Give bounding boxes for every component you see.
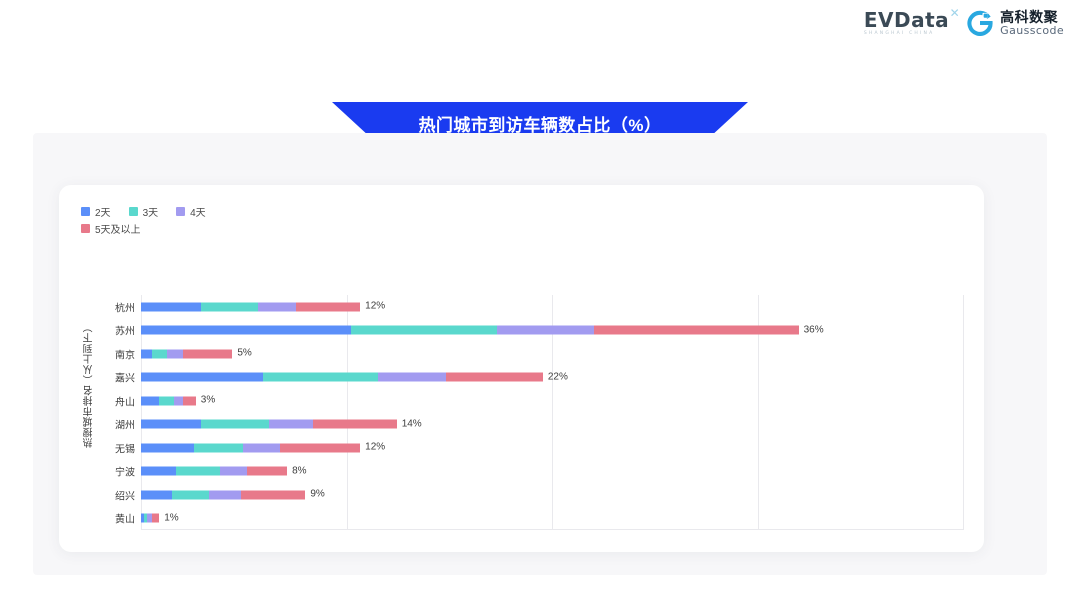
bar-segment-5天及以上[interactable] xyxy=(183,349,232,358)
bar-row[interactable]: 1% xyxy=(141,514,963,523)
bar-segment-4天[interactable] xyxy=(243,443,280,452)
bar-segment-3天[interactable] xyxy=(176,467,220,476)
bar-segment-2天[interactable] xyxy=(141,396,159,405)
bar-segment-2天[interactable] xyxy=(141,373,263,382)
bar-segment-3天[interactable] xyxy=(194,443,243,452)
bar-segment-2天[interactable] xyxy=(141,326,351,335)
bar-track xyxy=(141,420,397,429)
bar-segment-4天[interactable] xyxy=(220,467,247,476)
bar-segment-4天[interactable] xyxy=(167,349,183,358)
bar-segment-3天[interactable] xyxy=(263,373,378,382)
bar-segment-3天[interactable] xyxy=(351,326,497,335)
evdata-cross-icon: ✕ xyxy=(950,7,961,19)
bar-segment-5天及以上[interactable] xyxy=(152,514,159,523)
y-axis-title-label: 热搜城市排名（从上到下） xyxy=(82,322,97,448)
category-label: 苏州 xyxy=(103,323,135,338)
plot: 杭州苏州南京嘉兴舟山湖州无锡宁波绍兴黄山 12%36%5%22%3%14%12%… xyxy=(103,295,963,530)
bar-segment-5天及以上[interactable] xyxy=(313,420,397,429)
y-axis-title: 热搜城市排名（从上到下） xyxy=(81,285,97,485)
bar-segment-3天[interactable] xyxy=(159,396,174,405)
bar-row[interactable]: 8% xyxy=(141,467,963,476)
evdata-logo-text: EVData xyxy=(864,8,949,32)
bar-track xyxy=(141,490,305,499)
bar-track xyxy=(141,443,360,452)
bar-segment-5天及以上[interactable] xyxy=(247,467,287,476)
category-label: 宁波 xyxy=(103,464,135,479)
evdata-logo-subtitle: SHANGHAI CHINA xyxy=(864,32,935,37)
gridline xyxy=(963,295,964,530)
bar-value-label: 3% xyxy=(201,396,215,406)
category-label: 绍兴 xyxy=(103,487,135,502)
bar-segment-3天[interactable] xyxy=(201,420,269,429)
bar-segment-3天[interactable] xyxy=(201,302,258,311)
gausscode-logo-cn: 高科数聚 xyxy=(1000,10,1064,25)
bar-segment-2天[interactable] xyxy=(141,467,176,476)
bar-track xyxy=(141,396,196,405)
category-label: 湖州 xyxy=(103,417,135,432)
gausscode-mark-icon xyxy=(967,10,993,36)
bar-row[interactable]: 36% xyxy=(141,326,963,335)
bar-value-label: 12% xyxy=(365,443,385,453)
gausscode-logo-en: Gausscode xyxy=(1000,25,1064,37)
page-title: 热门城市到访车辆数占比（%） xyxy=(418,111,661,136)
bar-segment-4天[interactable] xyxy=(209,490,242,499)
bar-track xyxy=(141,514,159,523)
bar-value-label: 9% xyxy=(310,490,324,500)
bar-value-label: 5% xyxy=(237,349,251,359)
bar-segment-2天[interactable] xyxy=(141,443,194,452)
bar-value-label: 14% xyxy=(402,419,422,429)
category-label: 杭州 xyxy=(103,299,135,314)
gausscode-logo-text: 高科数聚 Gausscode xyxy=(1000,10,1064,36)
bar-segment-5天及以上[interactable] xyxy=(296,302,360,311)
bar-segment-4天[interactable] xyxy=(269,420,313,429)
bar-segment-4天[interactable] xyxy=(497,326,594,335)
category-label: 嘉兴 xyxy=(103,370,135,385)
bar-segment-4天[interactable] xyxy=(174,396,183,405)
bar-segment-5天及以上[interactable] xyxy=(446,373,543,382)
bar-row[interactable]: 9% xyxy=(141,490,963,499)
category-label: 黄山 xyxy=(103,511,135,526)
category-label: 舟山 xyxy=(103,393,135,408)
category-label: 南京 xyxy=(103,346,135,361)
bar-value-label: 22% xyxy=(548,372,568,382)
bar-segment-4天[interactable] xyxy=(378,373,446,382)
bar-segment-3天[interactable] xyxy=(152,349,167,358)
bar-segment-5天及以上[interactable] xyxy=(594,326,799,335)
category-label: 无锡 xyxy=(103,440,135,455)
evdata-logo-wordmark: EVData ✕ xyxy=(864,10,949,30)
bar-value-label: 12% xyxy=(365,302,385,312)
bar-segment-5天及以上[interactable] xyxy=(183,396,196,405)
bar-segment-2天[interactable] xyxy=(141,490,172,499)
bar-value-label: 8% xyxy=(292,466,306,476)
bar-segment-3天[interactable] xyxy=(172,490,209,499)
bar-segment-2天[interactable] xyxy=(141,302,201,311)
stacked-bar-chart: 热搜城市排名（从上到下） 杭州苏州南京嘉兴舟山湖州无锡宁波绍兴黄山 12%36%… xyxy=(59,185,984,552)
chart-card: 2天3天4天5天及以上 热搜城市排名（从上到下） 杭州苏州南京嘉兴舟山湖州无锡宁… xyxy=(59,185,984,552)
bar-track xyxy=(141,373,543,382)
bar-row[interactable]: 22% xyxy=(141,373,963,382)
bar-row[interactable]: 12% xyxy=(141,443,963,452)
bar-segment-2天[interactable] xyxy=(141,349,152,358)
bar-segment-4天[interactable] xyxy=(258,302,296,311)
bar-segment-2天[interactable] xyxy=(141,420,201,429)
bar-value-label: 36% xyxy=(804,325,824,335)
bar-row[interactable]: 3% xyxy=(141,396,963,405)
category-labels: 杭州苏州南京嘉兴舟山湖州无锡宁波绍兴黄山 xyxy=(103,295,135,530)
bar-row[interactable]: 12% xyxy=(141,302,963,311)
header-logos: EVData ✕ SHANGHAI CHINA 高科数聚 Gausscode xyxy=(864,10,1064,37)
bar-value-label: 1% xyxy=(164,513,178,523)
slide-root: EVData ✕ SHANGHAI CHINA 高科数聚 Gausscode 热… xyxy=(0,0,1080,608)
bar-row[interactable]: 5% xyxy=(141,349,963,358)
bar-track xyxy=(141,349,232,358)
bar-track xyxy=(141,326,799,335)
bar-segment-5天及以上[interactable] xyxy=(241,490,305,499)
bar-track xyxy=(141,302,360,311)
evdata-logo: EVData ✕ SHANGHAI CHINA xyxy=(864,10,949,37)
bar-track xyxy=(141,467,287,476)
plot-area: 12%36%5%22%3%14%12%8%9%1% xyxy=(141,295,963,530)
gausscode-logo: 高科数聚 Gausscode xyxy=(967,10,1064,36)
bar-segment-5天及以上[interactable] xyxy=(280,443,360,452)
bar-row[interactable]: 14% xyxy=(141,420,963,429)
